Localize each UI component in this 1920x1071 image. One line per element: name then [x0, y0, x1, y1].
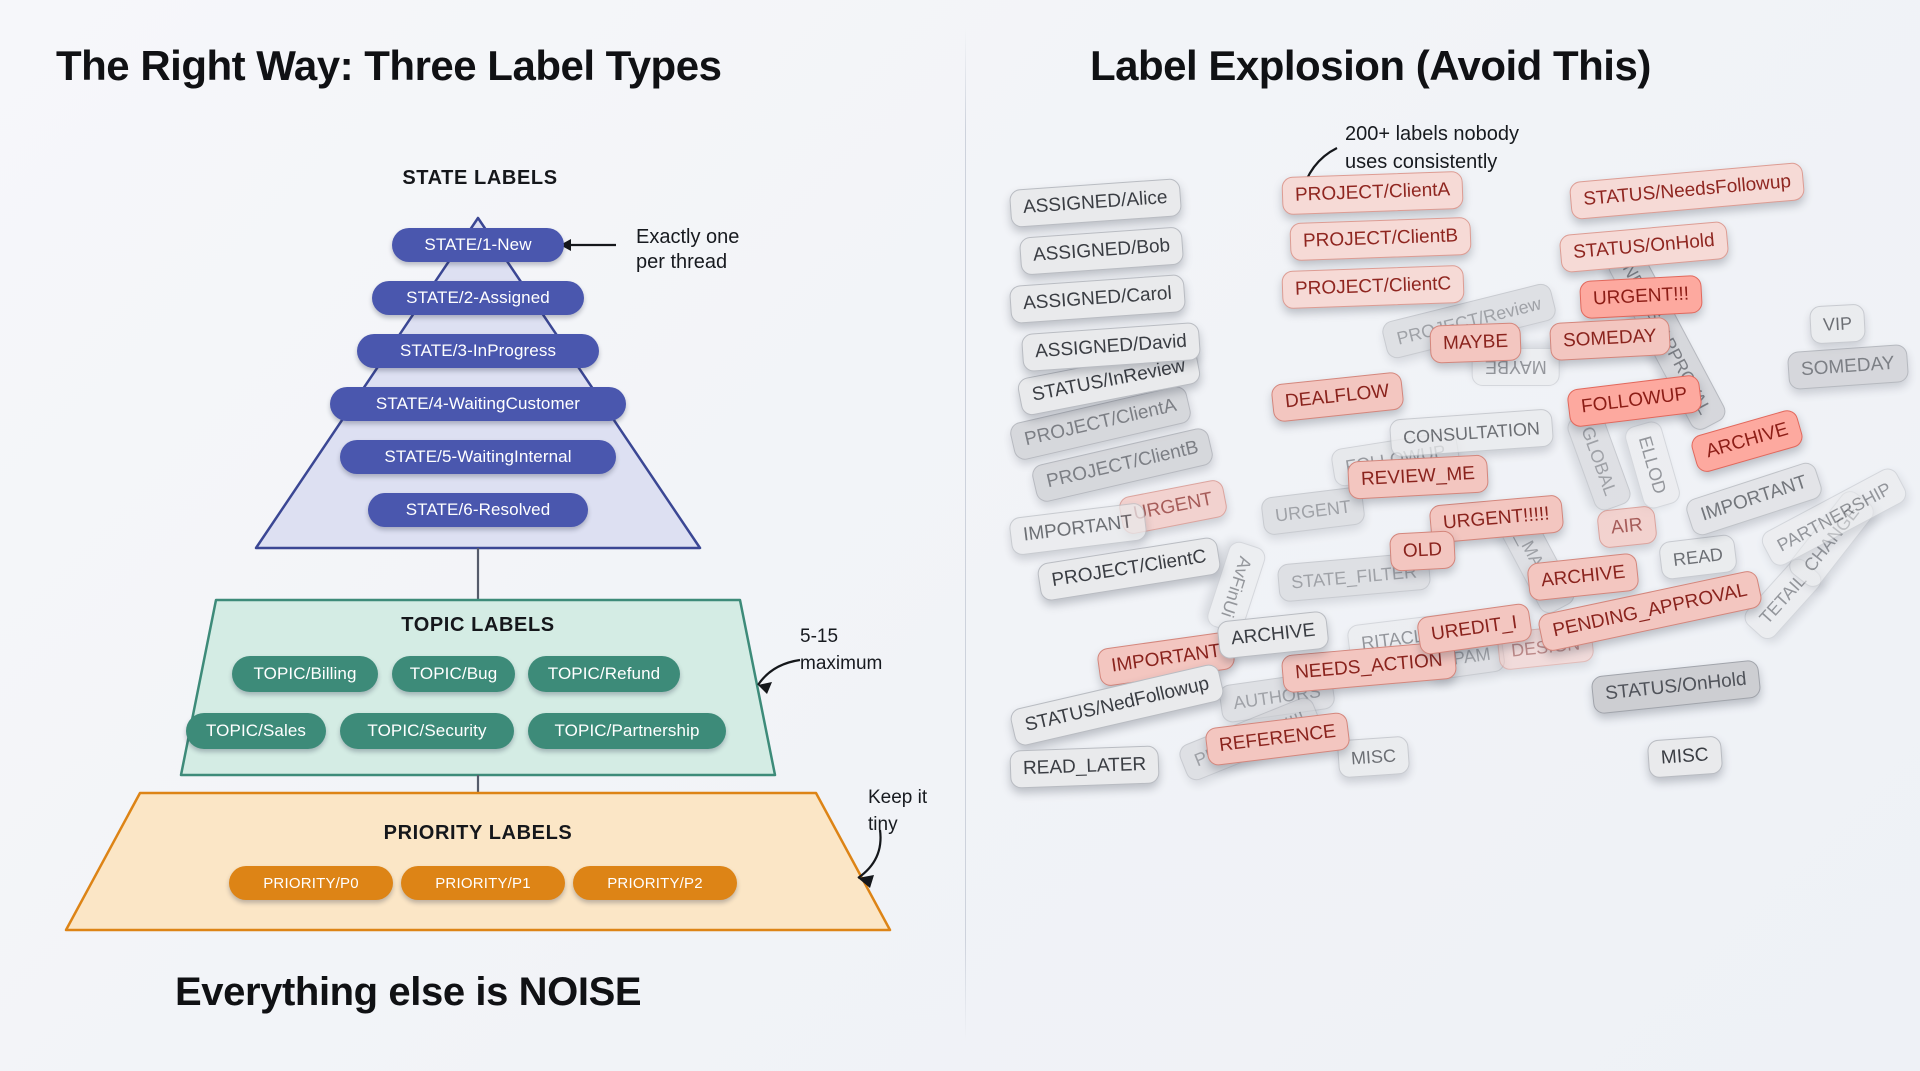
right-panel-title: Label Explosion (Avoid This)	[1090, 42, 1651, 90]
explosion-annotation-line1: 200+ labels nobody	[1345, 122, 1519, 146]
priority-chip-p0[interactable]: PRIORITY/P0	[229, 866, 393, 900]
topic-section-heading: TOPIC LABELS	[328, 614, 628, 637]
state-chip-6[interactable]: STATE/6-Resolved	[368, 493, 588, 527]
topic-chip-billing[interactable]: TOPIC/Billing	[232, 656, 378, 692]
state-annotation-line1: Exactly one	[636, 225, 739, 249]
priority-band-shape	[66, 793, 890, 930]
state-chip-5[interactable]: STATE/5-WaitingInternal	[340, 440, 616, 474]
state-chip-4[interactable]: STATE/4-WaitingCustomer	[330, 387, 626, 421]
priority-annotation-arrow	[858, 830, 881, 888]
explosion-label[interactable]: AIR	[1596, 505, 1657, 549]
explosion-label[interactable]: STATUS/NeedsFollowup	[1569, 162, 1806, 220]
explosion-label[interactable]: DEALFLOW	[1270, 371, 1404, 422]
topic-annotation-line1: 5-15	[800, 625, 838, 649]
priority-chip-p1[interactable]: PRIORITY/P1	[401, 866, 565, 900]
explosion-label-cloud: ASSIGNED/AliceASSIGNED/BobASSIGNED/Carol…	[1010, 150, 1920, 940]
explosion-label[interactable]: READ_LATER	[1009, 745, 1159, 788]
right-way-panel: The Right Way: Three Label Types	[0, 0, 965, 1071]
explosion-label[interactable]: ELLOD	[1623, 419, 1683, 511]
priority-annotation-line2: tiny	[868, 813, 898, 837]
topic-annotation-line2: maximum	[800, 652, 882, 676]
priority-chip-p2[interactable]: PRIORITY/P2	[573, 866, 737, 900]
explosion-label[interactable]: STATUS/OnHold	[1559, 221, 1730, 273]
state-annotation-arrow	[560, 239, 616, 251]
noise-footer-text: Everything else is NOISE	[175, 970, 641, 1015]
explosion-label[interactable]: VIP	[1809, 304, 1866, 345]
topic-annotation-arrow	[758, 660, 800, 694]
topic-chip-bug[interactable]: TOPIC/Bug	[392, 656, 515, 692]
explosion-label[interactable]: ASSIGNED/Carol	[1009, 274, 1186, 324]
state-chip-1[interactable]: STATE/1-New	[392, 228, 564, 262]
explosion-label[interactable]: SOMEDAY	[1549, 317, 1670, 361]
explosion-label[interactable]: PROJECT/ClientC	[1281, 265, 1464, 309]
pyramid-diagram: STATE LABELS STATE/1-New STATE/2-Assigne…	[0, 0, 965, 1071]
topic-chip-partnership[interactable]: TOPIC/Partnership	[528, 713, 726, 749]
explosion-label[interactable]: MAYBE	[1429, 322, 1521, 363]
state-annotation-line2: per thread	[636, 250, 727, 274]
priority-section-heading: PRIORITY LABELS	[328, 822, 628, 845]
explosion-label[interactable]: OLD	[1389, 530, 1456, 571]
explosion-label[interactable]: IMPORTANT	[1008, 502, 1148, 556]
pyramid-shapes	[0, 0, 965, 1071]
explosion-label[interactable]: MISC	[1647, 735, 1723, 778]
explosion-label[interactable]: CONSULTATION	[1389, 408, 1554, 457]
explosion-label[interactable]: READ	[1658, 534, 1738, 581]
topic-chip-refund[interactable]: TOPIC/Refund	[528, 656, 680, 692]
explosion-label[interactable]: ASSIGNED/Alice	[1009, 178, 1182, 228]
explosion-label[interactable]: PROJECT/ClientB	[1289, 217, 1471, 261]
priority-annotation-line1: Keep it	[868, 786, 927, 810]
explosion-label[interactable]: STATUS/OnHold	[1590, 659, 1761, 714]
explosion-label[interactable]: REVIEW_ME	[1347, 454, 1489, 499]
explosion-label[interactable]: FOLLOWUP	[1566, 374, 1702, 428]
state-chip-2[interactable]: STATE/2-Assigned	[372, 281, 584, 315]
state-chip-3[interactable]: STATE/3-InProgress	[357, 334, 599, 368]
explosion-label[interactable]: ASSIGNED/Bob	[1019, 226, 1185, 275]
explosion-label[interactable]: PROJECT/ClientA	[1281, 171, 1463, 215]
topic-chip-sales[interactable]: TOPIC/Sales	[186, 713, 326, 749]
topic-chip-security[interactable]: TOPIC/Security	[340, 713, 514, 749]
explosion-label[interactable]: URGENT!!!	[1579, 275, 1703, 319]
state-section-heading: STATE LABELS	[330, 167, 630, 190]
explosion-label[interactable]: SOMEDAY	[1787, 344, 1909, 390]
